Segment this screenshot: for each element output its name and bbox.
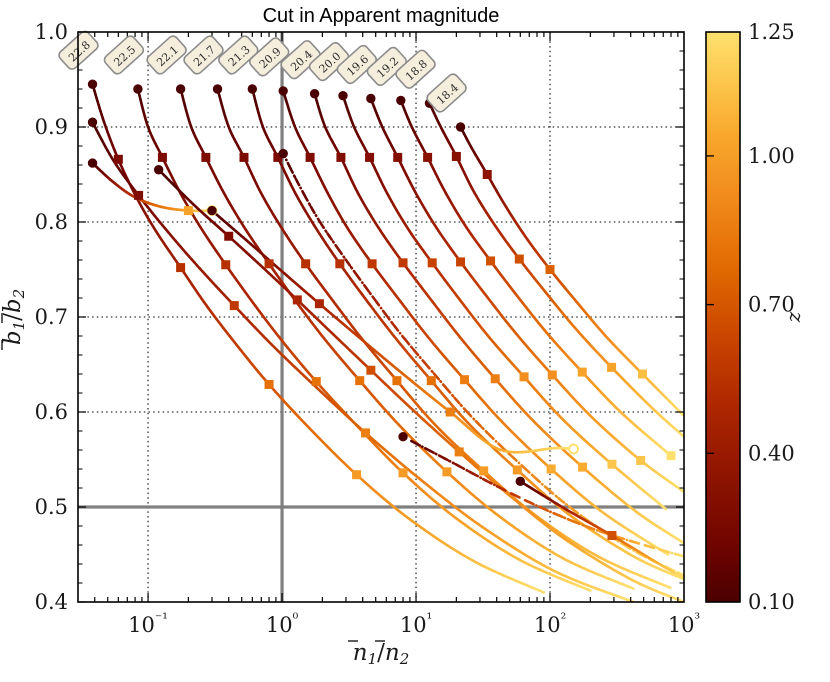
x-tick-label: 10¹: [400, 611, 432, 637]
y-tick-label: 1.0: [35, 20, 68, 44]
colorbar: [706, 32, 740, 602]
y-tick-label: 0.6: [35, 400, 68, 424]
x-tick-label: 10⁻¹: [128, 611, 168, 637]
chart-svg: 10⁻¹10⁰10¹10²10³0.40.50.60.70.80.91.0 22…: [0, 0, 830, 682]
colorbar-tick-label: 1.00: [748, 144, 795, 168]
colorbar-tick-label: 0.10: [748, 590, 795, 614]
x-tick-label: 10⁰: [266, 611, 299, 637]
plot-area-background: [78, 32, 684, 602]
y-tick-label: 0.4: [35, 590, 68, 614]
chart-title: Cut in Apparent magnitude: [263, 5, 500, 27]
y-tick-label: 0.5: [35, 495, 68, 519]
svg-text:b1/b2: b1/b2: [0, 289, 28, 345]
colorbar-tick-label: 1.25: [748, 20, 795, 44]
colorbar-label: z: [781, 311, 805, 323]
y-tick-label: 0.7: [35, 305, 68, 329]
x-axis-label: n1/n2: [348, 640, 409, 668]
svg-text:n1/n2: n1/n2: [353, 640, 410, 668]
y-axis-label: b1/b2: [0, 289, 28, 350]
x-tick-label: 10²: [534, 611, 566, 637]
y-tick-label: 0.8: [35, 210, 68, 234]
x-tick-label: 10³: [668, 611, 700, 637]
colorbar-tick-label: 0.40: [748, 441, 795, 465]
figure-root: 10⁻¹10⁰10¹10²10³0.40.50.60.70.80.91.0 22…: [0, 0, 830, 682]
y-tick-label: 0.9: [35, 115, 68, 139]
